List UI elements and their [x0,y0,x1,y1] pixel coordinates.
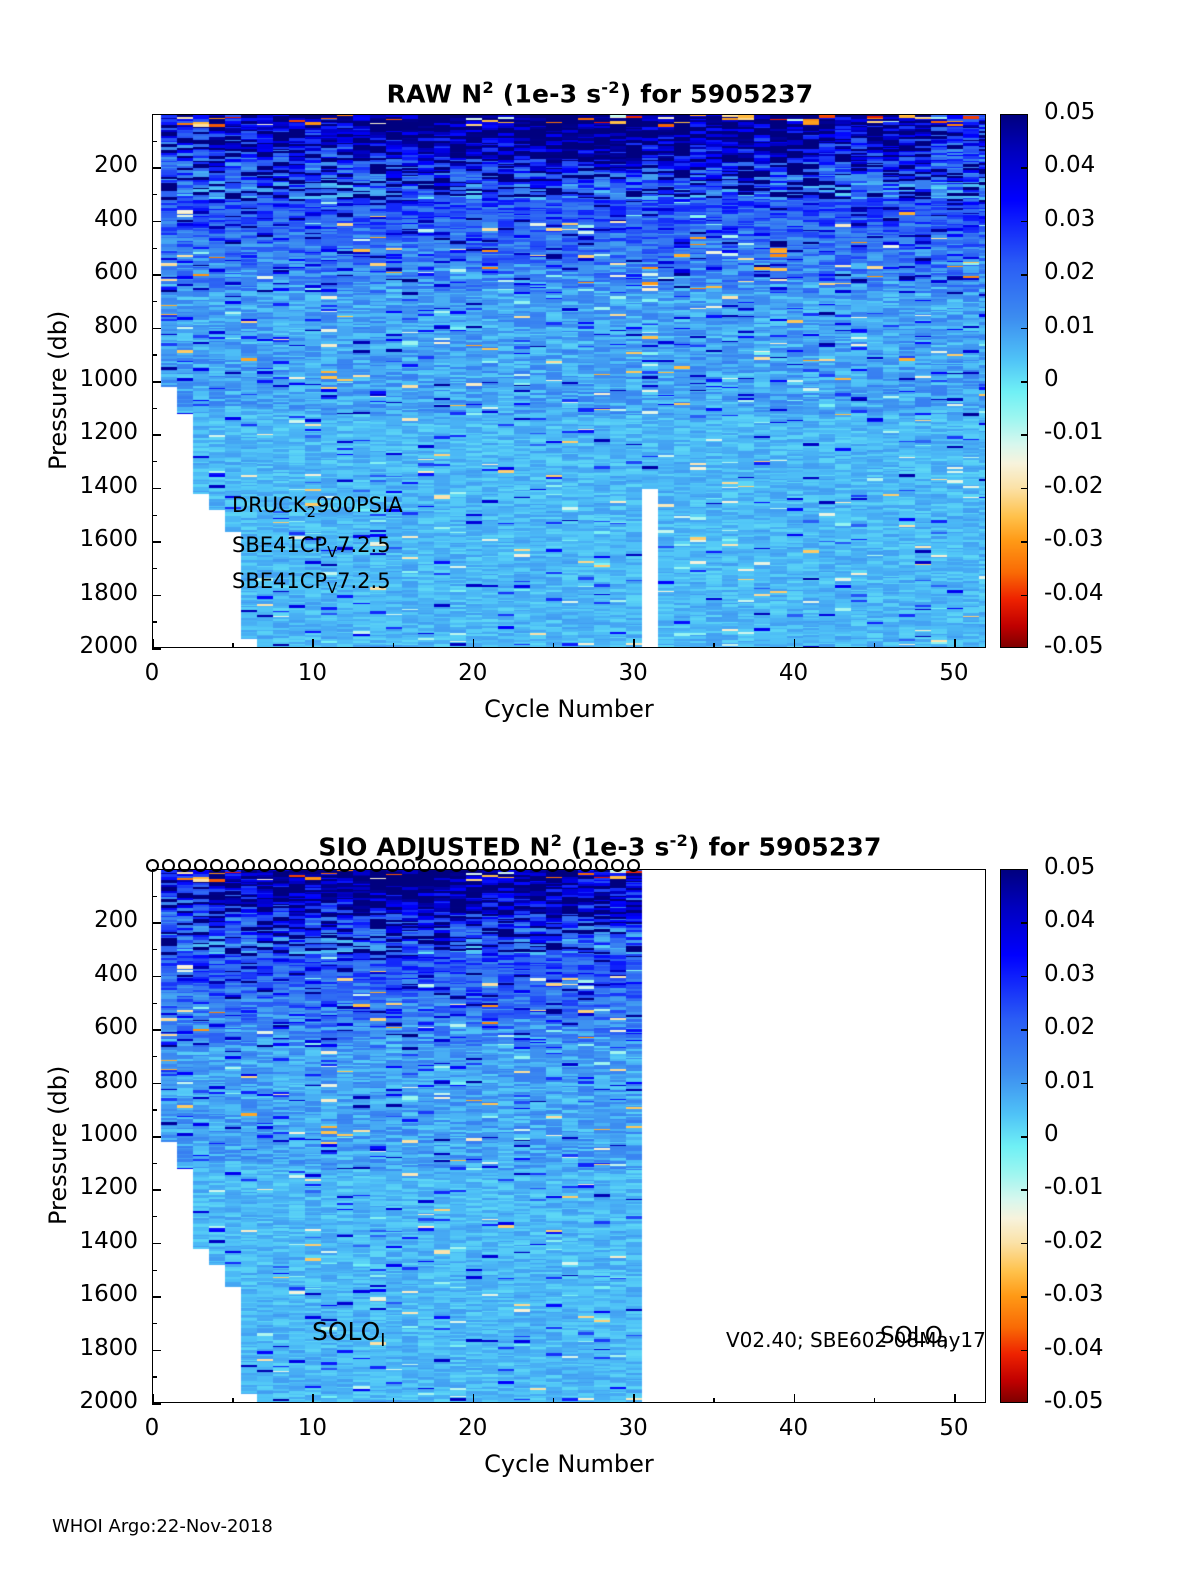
y-tick-label: 1600 [28,526,138,552]
x-tick-mark [794,1394,796,1403]
cycle-marker [563,859,576,872]
x-tick-label: 30 [598,1415,668,1441]
y-tick-label: 1800 [28,1335,138,1361]
colorbar-tick-label: -0.03 [1044,526,1104,552]
panel-raw-annotation-2: SBE41CPV7.2.5 [232,569,391,597]
cycle-marker [322,859,335,872]
cycle-marker [210,859,223,872]
y-tick-label: 200 [28,152,138,178]
y-tick-label: 800 [28,1068,138,1094]
y-tick-label: 400 [28,206,138,232]
y-tick-mark [152,167,161,169]
colorbar-tick-label: -0.02 [1044,473,1104,499]
y-tick-label: 200 [28,907,138,933]
panel-adjusted: SIO ADJUSTED N2 (1e-3 s-2) for 5905237 P… [0,755,1200,1515]
colorbar-tick-label: -0.01 [1044,1174,1104,1200]
panel-raw: RAW N2 (1e-3 s-2) for 5905237 Pressure (… [0,0,1200,760]
cycle-marker [627,859,640,872]
y-minor-tick [152,949,157,950]
panel-adjusted-x-axis-label: Cycle Number [152,1450,986,1478]
colorbar-tick-mark [1021,434,1028,436]
cycle-marker [338,859,351,872]
x-tick-label: 10 [277,660,347,686]
y-tick-label: 1400 [28,1228,138,1254]
cycle-marker [162,859,175,872]
colorbar-tick-mark [1021,541,1028,543]
y-tick-mark [152,1296,161,1298]
y-tick-mark [152,976,161,978]
y-tick-mark [152,328,161,330]
colorbar-tick-mark [1021,381,1028,383]
cycle-marker [579,859,592,872]
x-tick-label: 40 [759,1415,829,1441]
y-tick-mark [152,1350,161,1352]
y-tick-mark [152,1029,161,1031]
colorbar-tick-mark [1021,922,1028,924]
x-minor-tick [874,643,875,648]
y-minor-tick [152,141,157,142]
panel-adjusted-heatmap [153,870,986,1403]
x-minor-tick [393,1398,394,1403]
colorbar-tick-mark [1021,1189,1028,1191]
y-tick-label: 1400 [28,473,138,499]
y-tick-label: 1000 [28,1121,138,1147]
y-tick-label: 600 [28,259,138,285]
y-tick-mark [152,1403,161,1405]
colorbar-tick-label: 0 [1044,1121,1059,1147]
panel-adjusted-annotation-solo-right: SOLOI [880,1323,948,1353]
colorbar-tick-label: 0.01 [1044,313,1095,339]
x-tick-mark [794,639,796,648]
cycle-marker [498,859,511,872]
x-tick-mark [152,1394,154,1403]
colorbar-tick-label: 0.02 [1044,259,1095,285]
colorbar-tick-label: 0.05 [1044,99,1095,125]
cycle-marker [482,859,495,872]
x-tick-label: 10 [277,1415,347,1441]
x-tick-label: 20 [438,660,508,686]
panel-raw-annotation-0: DRUCK2900PSIA [232,493,403,521]
cycle-marker [354,859,367,872]
y-tick-mark [152,274,161,276]
cycle-marker [146,859,159,872]
y-tick-label: 600 [28,1014,138,1040]
colorbar-tick-label: -0.04 [1044,1335,1104,1361]
y-tick-label: 800 [28,313,138,339]
cycle-marker [530,859,543,872]
cycle-marker [258,859,271,872]
x-tick-label: 0 [117,660,187,686]
y-minor-tick [152,1323,157,1324]
y-minor-tick [152,1270,157,1271]
y-minor-tick [152,194,157,195]
x-tick-mark [312,639,314,648]
y-minor-tick [152,568,157,569]
y-tick-mark [152,1083,161,1085]
y-tick-mark [152,488,161,490]
cycle-marker [178,859,191,872]
colorbar-tick-label: -0.05 [1044,633,1104,659]
cycle-marker [434,859,447,872]
y-tick-mark [152,595,161,597]
cycle-marker [450,859,463,872]
cycle-marker [514,859,527,872]
x-minor-tick [393,643,394,648]
footer-credit: WHOI Argo:22-Nov-2018 [52,1516,273,1537]
x-tick-label: 50 [919,1415,989,1441]
panel-adjusted-cycle-markers [152,855,986,875]
colorbar-tick-label: -0.04 [1044,580,1104,606]
colorbar-tick-label: -0.02 [1044,1228,1104,1254]
colorbar-tick-mark [1021,1296,1028,1298]
y-tick-label: 1200 [28,419,138,445]
x-tick-mark [473,639,475,648]
panel-raw-plot-area [152,114,986,648]
colorbar-tick-label: 0.04 [1044,152,1095,178]
x-minor-tick [232,643,233,648]
colorbar-tick-mark [1021,488,1028,490]
y-minor-tick [152,461,157,462]
colorbar-tick-mark [1021,274,1028,276]
cycle-marker [274,859,287,872]
y-minor-tick [152,1163,157,1164]
colorbar-tick-label: -0.05 [1044,1388,1104,1414]
colorbar-tick-mark [1021,221,1028,223]
x-tick-mark [152,639,154,648]
x-minor-tick [232,1398,233,1403]
y-minor-tick [152,248,157,249]
x-minor-tick [874,1398,875,1403]
cycle-marker [370,859,383,872]
colorbar-tick-label: -0.01 [1044,419,1104,445]
x-tick-label: 50 [919,660,989,686]
colorbar-tick-mark [1021,976,1028,978]
x-tick-mark [633,1394,635,1403]
y-tick-label: 1000 [28,366,138,392]
x-minor-tick [553,1398,554,1403]
colorbar-tick-label: 0.01 [1044,1068,1095,1094]
y-tick-label: 400 [28,961,138,987]
cycle-marker [466,859,479,872]
colorbar-tick-label: 0.03 [1044,206,1095,232]
x-minor-tick [553,643,554,648]
x-tick-label: 20 [438,1415,508,1441]
x-minor-tick [713,1398,714,1403]
x-tick-label: 40 [759,660,829,686]
y-tick-mark [152,648,161,650]
y-minor-tick [152,1216,157,1217]
colorbar-tick-mark [1021,167,1028,169]
panel-raw-title: RAW N2 (1e-3 s-2) for 5905237 [0,78,1200,108]
cycle-marker [290,859,303,872]
y-minor-tick [152,301,157,302]
panel-adjusted-plot-area [152,869,986,1403]
cycle-marker [546,859,559,872]
colorbar-tick-mark [1021,1083,1028,1085]
cycle-marker [418,859,431,872]
x-minor-tick [713,643,714,648]
panel-raw-annotation-1: SBE41CPV7.2.5 [232,533,391,561]
colorbar-tick-label: 0.03 [1044,961,1095,987]
cycle-marker [226,859,239,872]
colorbar-tick-label: 0.05 [1044,854,1095,880]
y-tick-label: 1200 [28,1174,138,1200]
y-tick-label: 2000 [28,1388,138,1414]
y-tick-mark [152,221,161,223]
y-minor-tick [152,515,157,516]
y-tick-mark [152,1136,161,1138]
cycle-marker [194,859,207,872]
x-tick-mark [633,639,635,648]
y-tick-mark [152,541,161,543]
colorbar-tick-mark [1021,328,1028,330]
colorbar-tick-label: -0.03 [1044,1281,1104,1307]
cycle-marker [611,859,624,872]
x-tick-mark [954,639,956,648]
cycle-marker [242,859,255,872]
cycle-marker [402,859,415,872]
y-minor-tick [152,1376,157,1377]
x-tick-label: 0 [117,1415,187,1441]
y-tick-label: 2000 [28,633,138,659]
colorbar-tick-mark [1021,1136,1028,1138]
y-tick-label: 1800 [28,580,138,606]
cycle-marker [306,859,319,872]
colorbar-tick-mark [1021,595,1028,597]
panel-adjusted-annotation-solo-left: SOLOI [312,1317,385,1351]
y-tick-mark [152,1243,161,1245]
colorbar-tick-mark [1021,1029,1028,1031]
y-tick-mark [152,922,161,924]
x-tick-mark [473,1394,475,1403]
y-minor-tick [152,896,157,897]
colorbar-tick-mark [1021,1243,1028,1245]
x-tick-label: 30 [598,660,668,686]
y-minor-tick [152,1056,157,1057]
colorbar-tick-label: 0 [1044,366,1059,392]
panel-raw-x-axis-label: Cycle Number [152,695,986,723]
y-minor-tick [152,1003,157,1004]
x-tick-mark [954,1394,956,1403]
y-tick-mark [152,381,161,383]
y-minor-tick [152,408,157,409]
y-minor-tick [152,354,157,355]
x-tick-mark [312,1394,314,1403]
cycle-marker [386,859,399,872]
y-minor-tick [152,1109,157,1110]
colorbar-tick-mark [1021,1350,1028,1352]
y-tick-label: 1600 [28,1281,138,1307]
y-tick-mark [152,434,161,436]
y-minor-tick [152,621,157,622]
colorbar-tick-label: 0.02 [1044,1014,1095,1040]
cycle-marker [595,859,608,872]
colorbar-tick-label: 0.04 [1044,907,1095,933]
y-tick-mark [152,1189,161,1191]
